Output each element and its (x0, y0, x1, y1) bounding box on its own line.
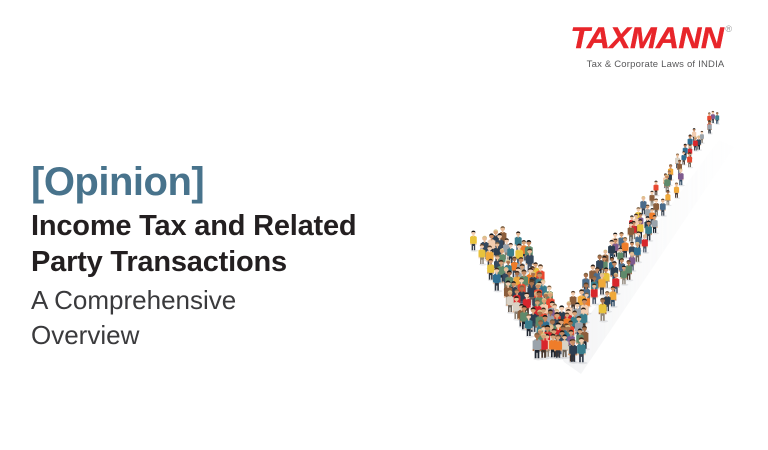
logo-tagline: Tax & Corporate Laws of INDIA (579, 60, 732, 70)
registered-trademark-icon: ® (725, 25, 732, 34)
taxmann-logo: TAXMANN ® Tax & Corporate Laws of INDIA (579, 24, 732, 70)
crowd-person (692, 128, 697, 142)
crowd-person (715, 112, 720, 125)
crowd-person (711, 111, 716, 124)
headline-block: [Opinion] Income Tax and Related Party T… (31, 160, 431, 352)
opinion-tag: [Opinion] (31, 160, 431, 205)
crowd-checkmark-illustration (455, 100, 755, 390)
opinion-banner: TAXMANN ® Tax & Corporate Laws of INDIA … (0, 0, 768, 450)
logo-wordmark-row: TAXMANN ® (579, 24, 732, 54)
page-title-line-2: Party Transactions (31, 245, 431, 281)
crowd-person (687, 152, 693, 168)
page-title-line-1: Income Tax and Related (31, 209, 431, 245)
crowd-person (470, 231, 478, 252)
crowd-person (654, 181, 660, 197)
logo-wordmark: TAXMANN (570, 24, 723, 54)
crowd-person (688, 135, 694, 151)
page-subtitle-line-2: Overview (31, 319, 431, 352)
page-subtitle-line-1: A Comprehensive (31, 284, 431, 317)
